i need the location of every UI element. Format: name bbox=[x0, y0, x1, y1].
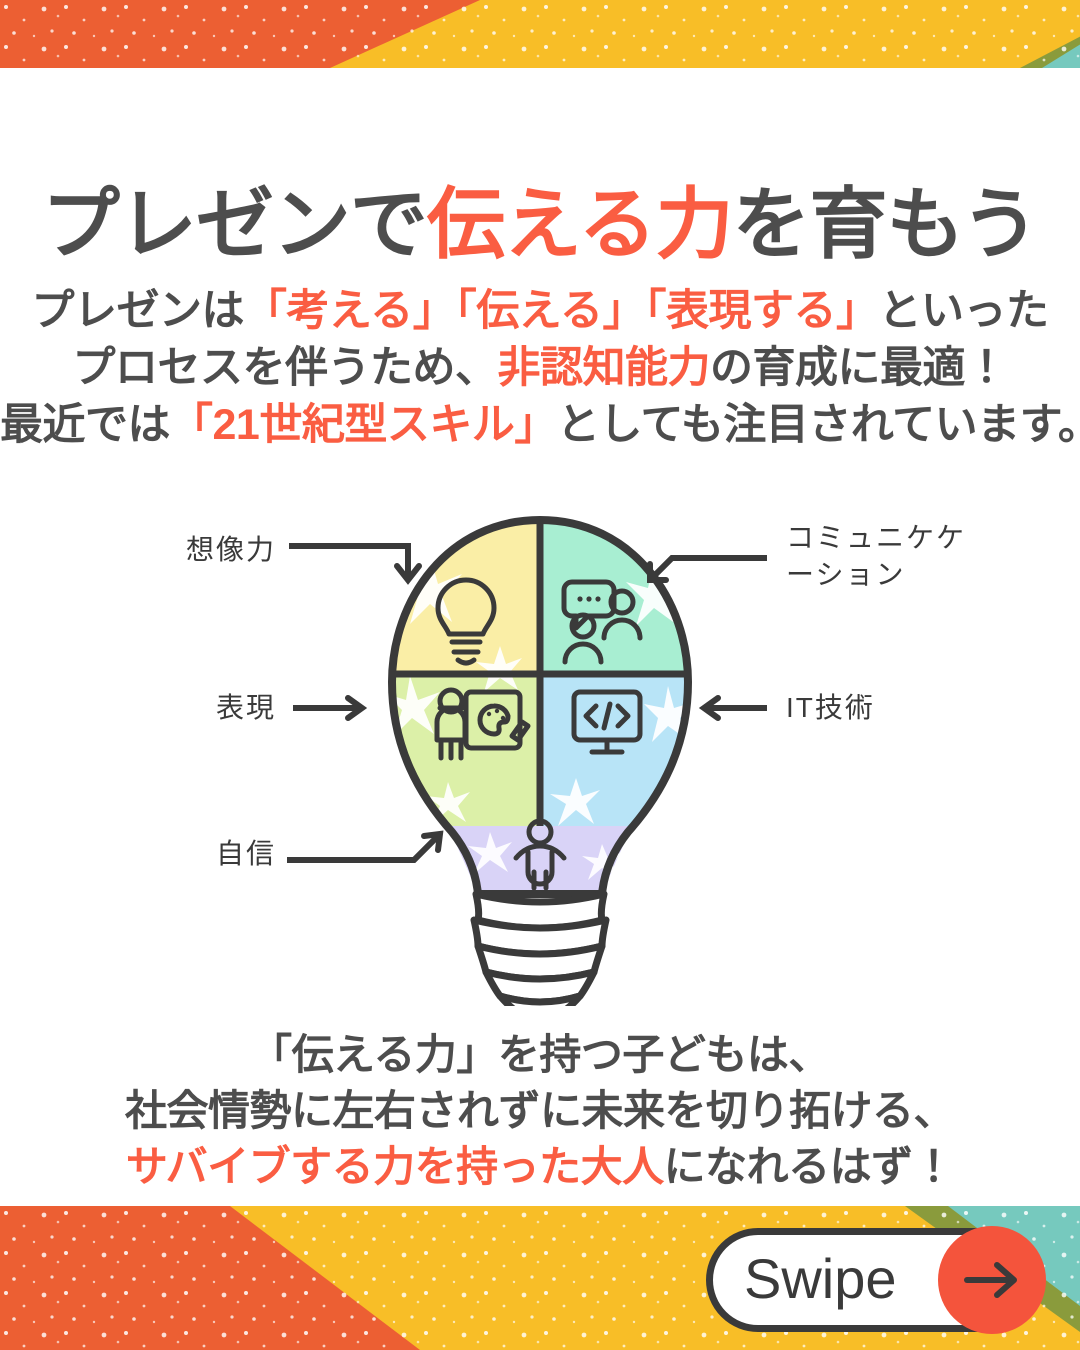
arrow-confidence bbox=[290, 836, 438, 860]
bulb-screw-base bbox=[474, 894, 606, 1006]
lead-line-2-highlight: 非認知能力 bbox=[498, 344, 711, 392]
lead-line-1-text-b: といった bbox=[878, 287, 1048, 335]
lead-line-3-highlight: 「21世紀型スキル」 bbox=[170, 401, 557, 449]
arrow-imagination bbox=[292, 546, 408, 578]
lightbulb-diagram: 想像力 表現 自信 コミュニケケ ーション IT技術 bbox=[0, 496, 1080, 1006]
page-title: プレゼンで伝える力を育もう bbox=[0, 184, 1080, 266]
closing-line-2: 社会情勢に左右されずに未来を切り拓ける、 bbox=[0, 1083, 1080, 1139]
closing-paragraph: 「伝える力」を持つ子どもは、 社会情勢に左右されずに未来を切り拓ける、 サバイブ… bbox=[0, 1027, 1080, 1195]
lead-line-3: 最近では「21世紀型スキル」としても注目されています。 bbox=[0, 397, 1080, 454]
diagram-label-communication: コミュニケケ ーション bbox=[786, 520, 966, 594]
diagram-label-confidence: 自信 bbox=[216, 836, 276, 873]
banner-texture bbox=[0, 0, 1080, 68]
swipe-label: Swipe bbox=[744, 1246, 897, 1311]
swipe-arrow-circle[interactable] bbox=[938, 1226, 1046, 1334]
diagram-label-it: IT技術 bbox=[786, 690, 875, 727]
infographic-page: プレゼンで伝える力を育もう プレゼンは「考える」「伝える」「表現する」といった … bbox=[0, 0, 1080, 1350]
arrow-communication bbox=[652, 558, 764, 578]
diagram-label-imagination: 想像力 bbox=[186, 532, 276, 569]
closing-line-3-highlight: サバイブする力を持った大人 bbox=[126, 1143, 664, 1190]
closing-line-3: サバイブする力を持った大人になれるはず！ bbox=[0, 1139, 1080, 1195]
lead-line-3-text-a: 最近では bbox=[0, 401, 170, 449]
title-highlight: 伝える力 bbox=[427, 180, 733, 268]
swipe-button[interactable]: Swipe bbox=[706, 1228, 1044, 1332]
closing-line-3-text: になれるはず！ bbox=[664, 1143, 955, 1190]
lead-line-2: プロセスを伴うため、非認知能力の育成に最適！ bbox=[0, 340, 1080, 397]
closing-line-1: 「伝える力」を持つ子どもは、 bbox=[0, 1027, 1080, 1083]
title-prefix: プレゼンで bbox=[42, 180, 427, 268]
lead-line-1-highlight: 「考える」「伝える」「表現する」 bbox=[244, 287, 878, 335]
diagram-label-expression: 表現 bbox=[216, 690, 276, 727]
lead-line-3-text-b: としても注目されています。 bbox=[557, 401, 1080, 449]
lead-line-2-text-b: の育成に最適！ bbox=[710, 344, 1008, 392]
top-decorative-banner bbox=[0, 0, 1080, 68]
title-suffix: を育もう bbox=[733, 180, 1039, 268]
lead-line-1-text-a: プレゼンは bbox=[32, 287, 245, 335]
lead-paragraph: プレゼンは「考える」「伝える」「表現する」といった プロセスを伴うため、非認知能… bbox=[0, 283, 1080, 453]
banner-top-shapes bbox=[0, 0, 1080, 68]
lead-line-1: プレゼンは「考える」「伝える」「表現する」といった bbox=[0, 283, 1080, 340]
lead-line-2-text-a: プロセスを伴うため、 bbox=[73, 344, 498, 392]
arrow-right-icon bbox=[961, 1259, 1023, 1301]
